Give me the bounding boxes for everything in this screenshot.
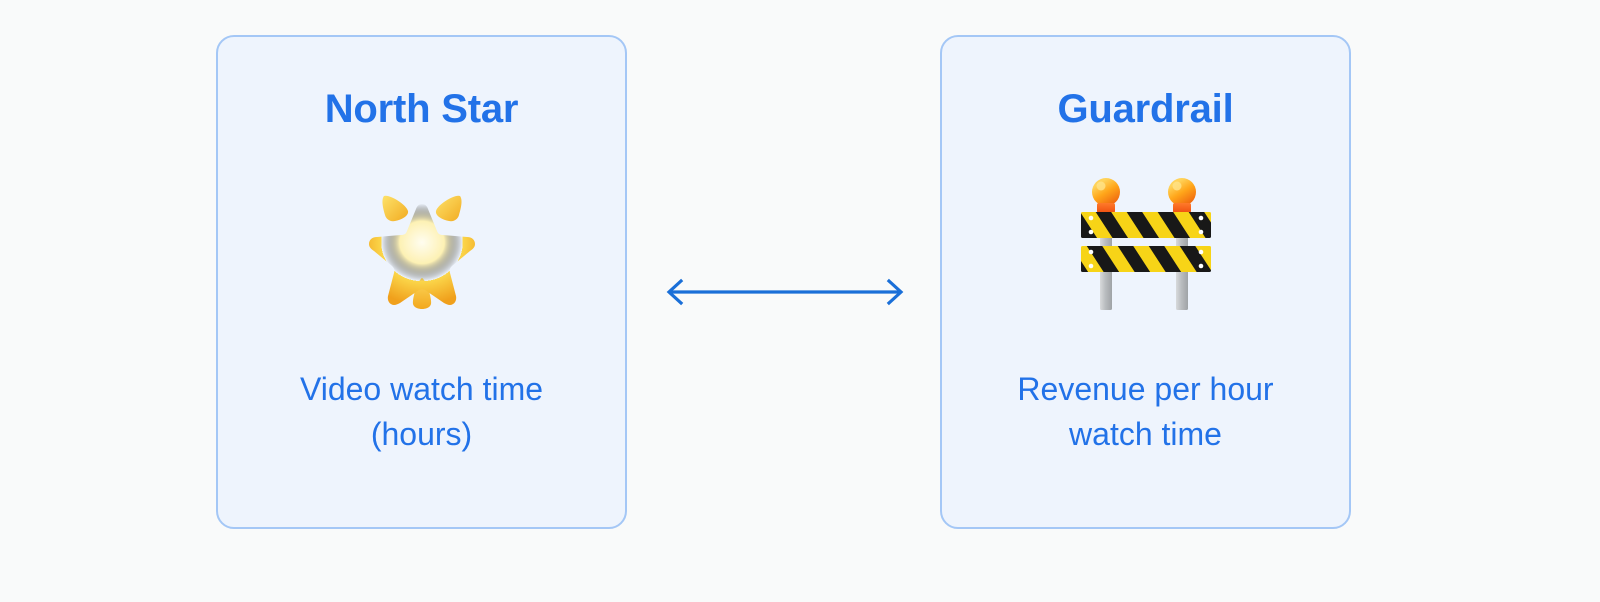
card-north-star-title: North Star <box>325 87 519 131</box>
card-north-star-description-line2: (hours) <box>252 412 592 457</box>
card-guardrail-description-line2: watch time <box>976 412 1316 457</box>
card-north-star[interactable]: North Star <box>216 35 627 529</box>
glowing-star-emoji <box>351 174 493 314</box>
card-north-star-description-line1: Video watch time <box>252 367 592 412</box>
card-guardrail-title: Guardrail <box>1057 87 1233 131</box>
card-guardrail[interactable]: Guardrail <box>940 35 1351 529</box>
card-guardrail-description: Revenue per hour watch time <box>976 367 1316 458</box>
construction-barrier-icon <box>1056 169 1236 319</box>
diagram-canvas: North Star <box>0 0 1600 602</box>
construction-barrier-emoji <box>1071 174 1221 314</box>
card-guardrail-description-line1: Revenue per hour <box>976 367 1316 412</box>
bidirectional-arrow <box>660 268 910 316</box>
glowing-star-icon <box>332 169 512 319</box>
card-north-star-description: Video watch time (hours) <box>252 367 592 458</box>
double-headed-arrow-icon <box>660 268 910 316</box>
